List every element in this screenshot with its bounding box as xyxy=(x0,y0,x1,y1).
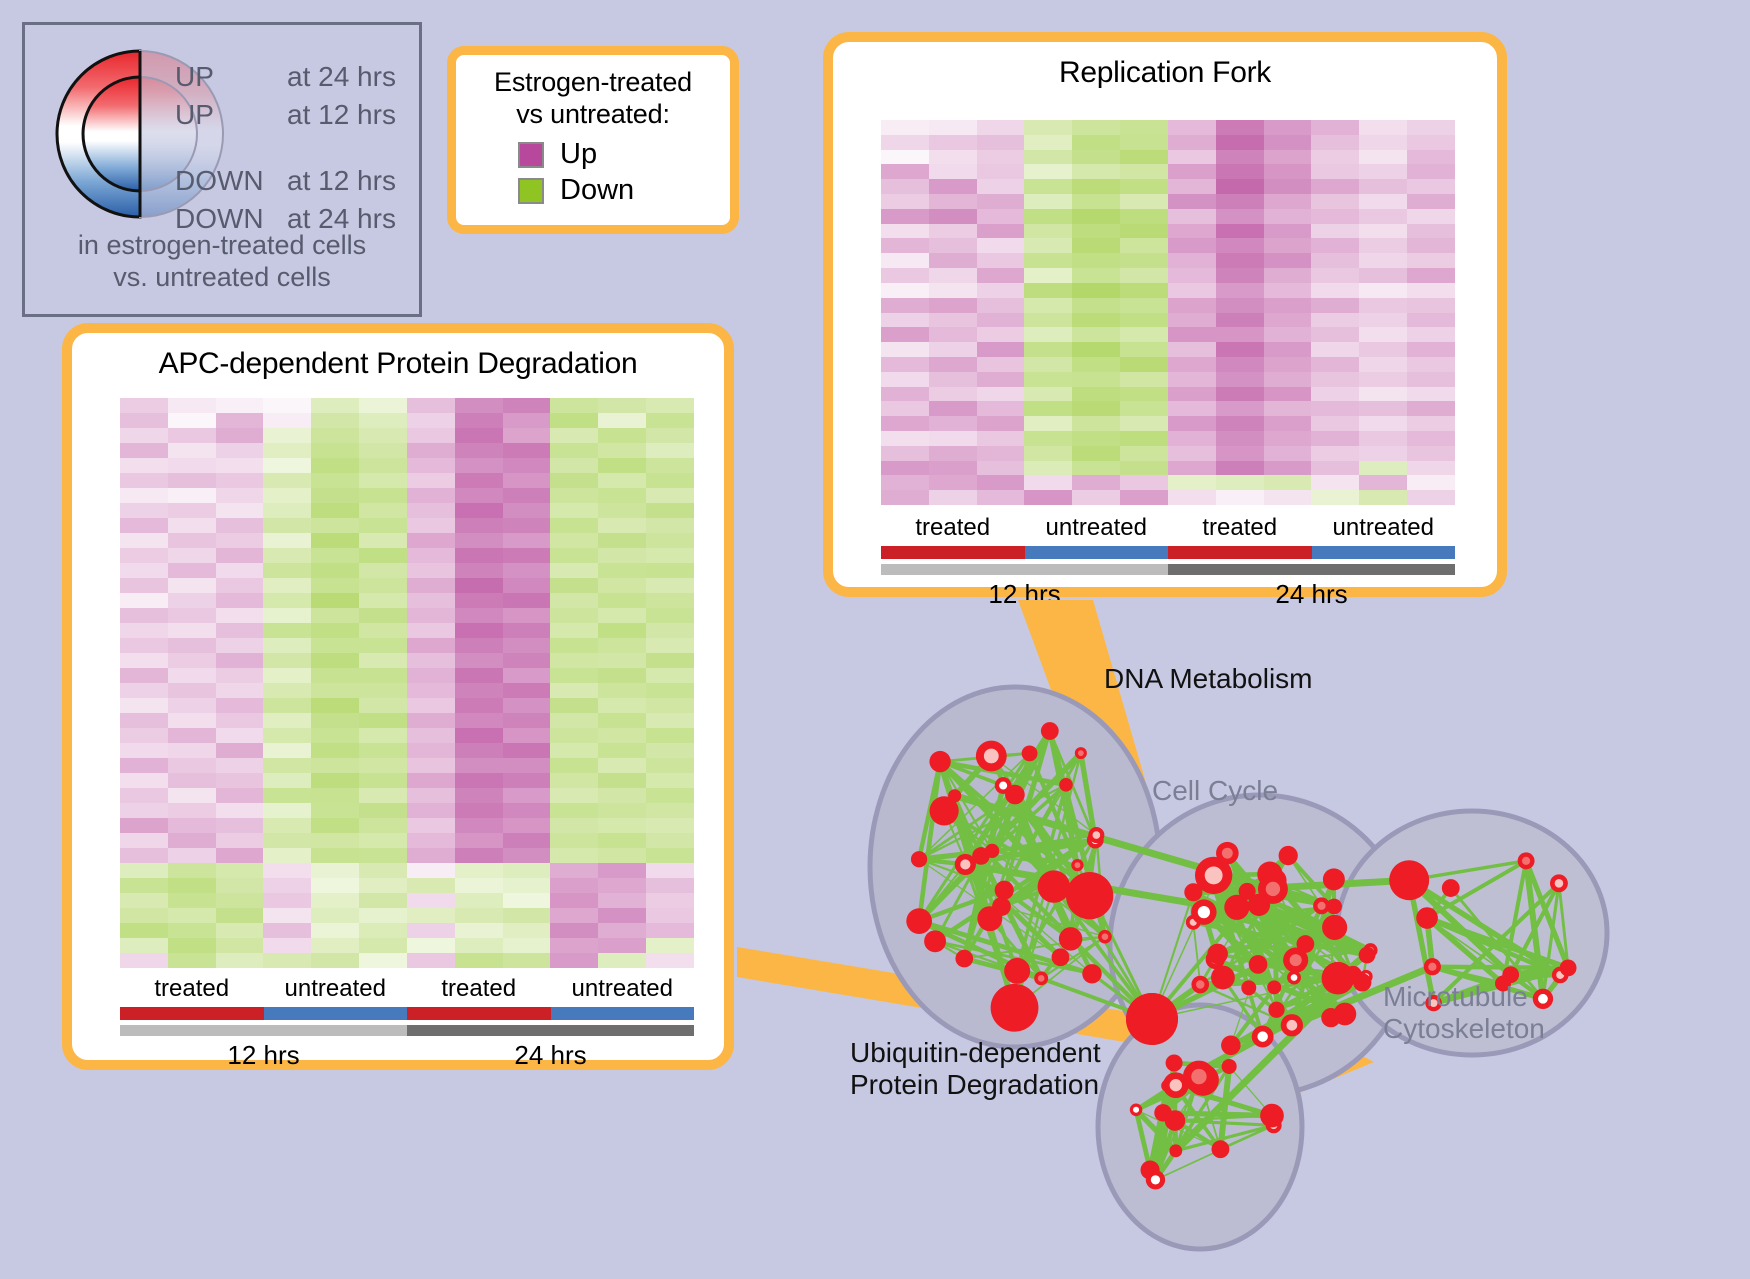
heatmap-cell xyxy=(1168,224,1216,239)
heatmap-cell xyxy=(1072,490,1120,505)
heatmap-cell xyxy=(216,728,264,743)
heatmap-cell xyxy=(1311,446,1359,461)
heatmap-cell xyxy=(455,668,503,683)
sample-label: treated xyxy=(407,975,551,1003)
heatmap-cell xyxy=(503,443,551,458)
heatmap-cell xyxy=(1407,238,1455,253)
network-svg xyxy=(800,615,1750,1279)
heatmap-cell xyxy=(1024,461,1072,476)
heatmap-cell xyxy=(407,533,455,548)
heatmap-cell xyxy=(1024,150,1072,165)
heatmap-cell xyxy=(311,593,359,608)
heatmap-cell xyxy=(407,833,455,848)
heatmap-cell xyxy=(216,548,264,563)
heatmap-cell xyxy=(1168,387,1216,402)
heatmap-cell xyxy=(977,401,1025,416)
network-node xyxy=(1169,1144,1182,1157)
heatmap-cell xyxy=(1168,401,1216,416)
network-node xyxy=(1052,948,1070,966)
heatmap-cell xyxy=(646,803,694,818)
heatmap-cell xyxy=(881,313,929,328)
heatmap-cell xyxy=(881,164,929,179)
heatmap-cell xyxy=(598,608,646,623)
heatmap-cell xyxy=(550,803,598,818)
heatmap-cell xyxy=(1024,313,1072,328)
heatmap-cell xyxy=(550,773,598,788)
heatmap-cell xyxy=(263,578,311,593)
heatmap-cell xyxy=(311,638,359,653)
heatmap-cell xyxy=(929,164,977,179)
heatmap-cell xyxy=(455,578,503,593)
heatmap-cell xyxy=(503,638,551,653)
heatmap-cell xyxy=(216,413,264,428)
legend-value: at 12 hrs xyxy=(287,99,396,131)
heatmap-cell xyxy=(1216,164,1264,179)
heatmap-cell xyxy=(598,788,646,803)
heatmap-cell xyxy=(503,698,551,713)
heatmap-cell xyxy=(120,518,168,533)
heatmap-cell xyxy=(311,443,359,458)
heatmap-cell xyxy=(168,728,216,743)
label-line-1: Ubiquitin-dependent xyxy=(850,1037,1101,1069)
heatmap-cell xyxy=(929,135,977,150)
network-node xyxy=(1241,980,1256,995)
heatmap-cell xyxy=(263,803,311,818)
heatmap-cell xyxy=(1072,283,1120,298)
heatmap-cell xyxy=(598,443,646,458)
heatmap-cell xyxy=(216,518,264,533)
updown-key-box: Estrogen-treated vs untreated: Up Down xyxy=(447,46,739,234)
heatmap-cell xyxy=(120,713,168,728)
updown-key-title: Estrogen-treated vs untreated: xyxy=(456,55,730,131)
heatmap-cell xyxy=(550,788,598,803)
heatmap-cell xyxy=(646,668,694,683)
heatmap-cell xyxy=(168,818,216,833)
heatmap-cell xyxy=(359,653,407,668)
time-labels: 12 hrs 24 hrs xyxy=(881,579,1455,610)
heatmap-cell xyxy=(1407,387,1455,402)
heatmap-cell xyxy=(1120,164,1168,179)
heatmap-cell xyxy=(977,238,1025,253)
network-node xyxy=(1279,846,1298,865)
network-node xyxy=(1416,907,1438,929)
heatmap-cell xyxy=(168,473,216,488)
heatmap-cell xyxy=(263,758,311,773)
heatmap-cell xyxy=(407,683,455,698)
heatmap-cell xyxy=(646,773,694,788)
heatmap-cell xyxy=(1216,135,1264,150)
heatmap-cell xyxy=(977,150,1025,165)
heatmap-cell xyxy=(120,743,168,758)
heatmap-cell xyxy=(216,713,264,728)
heatmap-cell xyxy=(1024,401,1072,416)
heatmap-cell xyxy=(407,878,455,893)
heatmap-cell xyxy=(977,283,1025,298)
heatmap-cell xyxy=(1072,372,1120,387)
heatmap-cell xyxy=(1120,150,1168,165)
heatmap-cell xyxy=(216,698,264,713)
network-node-core xyxy=(1257,1031,1267,1041)
heatmap-cell xyxy=(929,209,977,224)
heatmap-cell xyxy=(455,923,503,938)
heatmap-cell xyxy=(881,401,929,416)
heatmap-cell xyxy=(646,788,694,803)
heatmap-cell xyxy=(977,224,1025,239)
network-node xyxy=(995,881,1014,900)
legend-key: DOWN xyxy=(175,165,287,197)
heatmap-cell xyxy=(120,953,168,968)
heatmap-cell xyxy=(1168,164,1216,179)
heatmap-cell xyxy=(263,893,311,908)
heatmap-cell xyxy=(216,788,264,803)
heatmap-cell xyxy=(407,818,455,833)
heatmap-cell xyxy=(503,623,551,638)
heatmap-cell xyxy=(1024,327,1072,342)
network-node-core xyxy=(999,782,1007,790)
heatmap-cell xyxy=(1072,164,1120,179)
network-node xyxy=(1260,1104,1284,1128)
heatmap-cell xyxy=(1120,327,1168,342)
heatmap-cell xyxy=(455,893,503,908)
heatmap-cell xyxy=(1359,150,1407,165)
network-node xyxy=(924,930,946,952)
heatmap-cell xyxy=(168,548,216,563)
heatmap-cell xyxy=(1264,357,1312,372)
heatmap-cell xyxy=(1168,313,1216,328)
heatmap-cell xyxy=(598,863,646,878)
heatmap-cell xyxy=(1216,298,1264,313)
heatmap-cell xyxy=(311,743,359,758)
heatmap-cell xyxy=(311,473,359,488)
heatmap-cell xyxy=(455,698,503,713)
heatmap-cell xyxy=(1216,224,1264,239)
heatmap-cell xyxy=(1024,283,1072,298)
heatmap-cell xyxy=(550,398,598,413)
heatmap-cell xyxy=(550,578,598,593)
heatmap-cell xyxy=(407,923,455,938)
heatmap-cell xyxy=(881,283,929,298)
heatmap-cell xyxy=(455,443,503,458)
heatmap-cell xyxy=(455,788,503,803)
heatmap-cell xyxy=(1216,150,1264,165)
heatmap-cell xyxy=(359,713,407,728)
heatmap-cell xyxy=(598,833,646,848)
heatmap-cell xyxy=(263,818,311,833)
cluster-label-cell-cycle: Cell Cycle xyxy=(1152,775,1278,807)
panel-apc-dependent-protein-degradation: APC-dependent Protein Degradation treate… xyxy=(62,323,734,1070)
network-node xyxy=(1059,927,1082,950)
heatmap-cell xyxy=(598,818,646,833)
heatmap-cell xyxy=(216,638,264,653)
heatmap-cell xyxy=(1407,135,1455,150)
heatmap-cell xyxy=(550,713,598,728)
heatmap-cell xyxy=(929,327,977,342)
heatmap-cell xyxy=(881,357,929,372)
heatmap-cell xyxy=(503,413,551,428)
heatmap-cell xyxy=(455,803,503,818)
heatmap-cell xyxy=(646,458,694,473)
heatmap-cell xyxy=(977,120,1025,135)
heatmap-cell xyxy=(550,698,598,713)
heatmap-cell xyxy=(407,788,455,803)
heatmap-cell xyxy=(1168,194,1216,209)
heatmap-cell xyxy=(1311,416,1359,431)
heatmap-cell xyxy=(359,848,407,863)
heatmap-cell xyxy=(1216,268,1264,283)
network-node xyxy=(1442,879,1460,897)
heatmap-cell xyxy=(503,428,551,443)
heatmap-cell xyxy=(311,848,359,863)
treatment-color-bar xyxy=(881,546,1455,559)
heatmap-cell xyxy=(120,413,168,428)
heatmap-cell xyxy=(120,623,168,638)
heatmap-cell xyxy=(168,893,216,908)
heatmap-cell xyxy=(1216,283,1264,298)
heatmap-cell xyxy=(646,593,694,608)
heatmap-cell xyxy=(1311,357,1359,372)
network-node xyxy=(1005,785,1025,805)
heatmap-cell xyxy=(311,533,359,548)
heatmap-cell xyxy=(455,428,503,443)
heatmap-cell xyxy=(1024,268,1072,283)
network-node-core xyxy=(1170,1079,1182,1091)
heatmap-cell xyxy=(311,548,359,563)
treatment-bar-segment xyxy=(1312,546,1456,559)
treatment-bar-segment xyxy=(551,1007,695,1020)
heatmap-cell xyxy=(598,683,646,698)
heatmap-cell xyxy=(550,863,598,878)
heatmap-cell xyxy=(1311,313,1359,328)
heatmap-cell xyxy=(311,788,359,803)
heatmap-cell xyxy=(598,713,646,728)
heatmap-cell xyxy=(1168,342,1216,357)
heatmap-cell xyxy=(1024,431,1072,446)
heatmap-cell xyxy=(598,428,646,443)
heatmap-cell xyxy=(929,313,977,328)
heatmap-cell xyxy=(1168,135,1216,150)
heatmap-cell xyxy=(1359,194,1407,209)
heatmap-cell xyxy=(881,120,929,135)
heatmap-cell xyxy=(120,893,168,908)
network-node-core xyxy=(1102,933,1109,940)
heatmap-cell xyxy=(120,668,168,683)
heatmap-cell xyxy=(1264,401,1312,416)
heatmap-cell xyxy=(120,428,168,443)
heatmap-cell xyxy=(646,938,694,953)
heatmap-cell xyxy=(407,713,455,728)
heatmap-cell xyxy=(407,698,455,713)
heatmap-cell xyxy=(168,638,216,653)
heatmap-cell xyxy=(550,608,598,623)
heatmap-cell xyxy=(550,953,598,968)
heatmap-cell xyxy=(359,638,407,653)
heatmap-cell xyxy=(1359,387,1407,402)
heatmap-cell xyxy=(263,638,311,653)
heatmap-cell xyxy=(977,461,1025,476)
heatmap-cell xyxy=(1072,431,1120,446)
heatmap-cell xyxy=(407,488,455,503)
heatmap-cell xyxy=(881,209,929,224)
heatmap-cell xyxy=(977,135,1025,150)
heatmap-cell xyxy=(881,224,929,239)
heatmap-cell xyxy=(1120,475,1168,490)
heatmap-cell xyxy=(1264,179,1312,194)
time-color-bar xyxy=(120,1025,694,1036)
heatmap-cell xyxy=(598,473,646,488)
heatmap-cell xyxy=(881,490,929,505)
network-node-core xyxy=(1038,975,1045,982)
heatmap-cell xyxy=(359,578,407,593)
heatmap-cell xyxy=(1407,179,1455,194)
heatmap-cell xyxy=(503,773,551,788)
heatmap-cell xyxy=(1168,120,1216,135)
network-node xyxy=(1267,980,1281,994)
heatmap-cell xyxy=(598,413,646,428)
heatmap-cell xyxy=(1264,194,1312,209)
heatmap-cell xyxy=(598,848,646,863)
heatmap-cell xyxy=(929,490,977,505)
heatmap-cell xyxy=(1311,342,1359,357)
colorbar-legend-box: UP at 24 hrs UP at 12 hrs DOWN at 12 hrs… xyxy=(22,22,422,317)
heatmap-cell xyxy=(1072,209,1120,224)
heatmap-cell xyxy=(1264,135,1312,150)
heatmap-cell xyxy=(216,773,264,788)
heatmap-cell xyxy=(216,428,264,443)
heatmap-cell xyxy=(1407,461,1455,476)
heatmap-cell xyxy=(977,372,1025,387)
heatmap-cell xyxy=(407,503,455,518)
heatmap-cell xyxy=(1120,313,1168,328)
heatmap-cell xyxy=(311,923,359,938)
heatmap-cell xyxy=(263,443,311,458)
heatmap-cell xyxy=(1216,179,1264,194)
heatmap-cell xyxy=(168,578,216,593)
heatmap-cell xyxy=(1264,150,1312,165)
sample-label: untreated xyxy=(551,975,695,1003)
heatmap-cell xyxy=(929,120,977,135)
treatment-bar-segment xyxy=(881,546,1025,559)
sample-annotation-strip: treated untreated treated untreated 12 h… xyxy=(881,514,1455,610)
heatmap-cell xyxy=(407,578,455,593)
heatmap-cell xyxy=(503,503,551,518)
network-node-core xyxy=(1191,1069,1206,1084)
heatmap-cell xyxy=(359,623,407,638)
heatmap-cell xyxy=(1168,238,1216,253)
heatmap-cell xyxy=(1072,268,1120,283)
heatmap-cell xyxy=(168,698,216,713)
heatmap-cell xyxy=(216,668,264,683)
heatmap-cell xyxy=(1072,461,1120,476)
network-node-core xyxy=(984,749,999,764)
heatmap-cell xyxy=(646,923,694,938)
heatmap-cell xyxy=(407,848,455,863)
heatmap-cell xyxy=(359,668,407,683)
heatmap-cell xyxy=(120,473,168,488)
heatmap-cell xyxy=(311,458,359,473)
heatmap-cell xyxy=(1407,401,1455,416)
heatmap-cell xyxy=(598,548,646,563)
heatmap-cell xyxy=(263,863,311,878)
heatmap-cell xyxy=(407,638,455,653)
heatmap-cell xyxy=(929,298,977,313)
heatmap-cell xyxy=(120,788,168,803)
heatmap-cell xyxy=(977,268,1025,283)
heatmap-cell xyxy=(168,503,216,518)
heatmap-cell xyxy=(1359,253,1407,268)
heatmap-cell xyxy=(311,623,359,638)
heatmap-cell xyxy=(168,803,216,818)
sample-annotation-strip: treated untreated treated untreated 12 h… xyxy=(120,975,694,1071)
heatmap-cell xyxy=(216,863,264,878)
heatmap-cell xyxy=(263,518,311,533)
treatment-bar-segment xyxy=(1025,546,1169,559)
network-node-core xyxy=(1291,974,1298,981)
cluster-label-dna-metabolism: DNA Metabolism xyxy=(1104,663,1313,695)
heatmap-cell xyxy=(1216,238,1264,253)
heatmap-cell xyxy=(881,416,929,431)
heatmap-cell xyxy=(311,563,359,578)
heatmap-cell xyxy=(550,623,598,638)
heatmap-cell xyxy=(598,803,646,818)
footer-line-2: vs. untreated cells xyxy=(25,262,419,294)
heatmap-cell xyxy=(168,878,216,893)
heatmap-cell xyxy=(1359,357,1407,372)
heatmap-cell xyxy=(550,593,598,608)
heatmap-cell xyxy=(1120,357,1168,372)
network-node-core xyxy=(1222,848,1233,859)
heatmap-cell xyxy=(1264,164,1312,179)
heatmap-cell xyxy=(550,413,598,428)
heatmap-cell xyxy=(977,253,1025,268)
heatmap-cell xyxy=(1216,194,1264,209)
heatmap-cell xyxy=(598,953,646,968)
heatmap-cell xyxy=(359,818,407,833)
heatmap-cell xyxy=(168,923,216,938)
network-node xyxy=(1212,1140,1230,1158)
heatmap-cell xyxy=(598,728,646,743)
colorbar-legend-rows: UP at 24 hrs UP at 12 hrs DOWN at 12 hrs… xyxy=(175,61,415,241)
heatmap-cell xyxy=(263,743,311,758)
heatmap-cell xyxy=(503,908,551,923)
heatmap-cell xyxy=(1264,475,1312,490)
heatmap-cell xyxy=(168,683,216,698)
heatmap-cell xyxy=(929,387,977,402)
heatmap-cell xyxy=(359,833,407,848)
heatmap-cell xyxy=(1359,461,1407,476)
heatmap-cell xyxy=(120,728,168,743)
network-node xyxy=(991,984,1039,1032)
heatmap-cell xyxy=(1264,446,1312,461)
heatmap-cell xyxy=(407,518,455,533)
heatmap-cell xyxy=(216,908,264,923)
cluster-label-microtubule-cytoskeleton: Microtubule Cytoskeleton xyxy=(1383,981,1545,1046)
heatmap-cell xyxy=(216,953,264,968)
heatmap-cell xyxy=(1407,313,1455,328)
heatmap-cell xyxy=(1024,387,1072,402)
heatmap-cell xyxy=(455,833,503,848)
cluster-label-ubiquitin-degradation: Ubiquitin-dependent Protein Degradation xyxy=(850,1037,1101,1102)
heatmap-cell xyxy=(881,268,929,283)
heatmap-cell xyxy=(359,458,407,473)
legend-key: UP xyxy=(175,99,287,131)
heatmap-cell xyxy=(881,135,929,150)
heatmap-cell xyxy=(1216,431,1264,446)
heatmap-cell xyxy=(168,488,216,503)
network-node xyxy=(1079,899,1097,917)
heatmap-cell xyxy=(550,473,598,488)
heatmap-cell xyxy=(598,578,646,593)
heatmap-cell xyxy=(1216,372,1264,387)
